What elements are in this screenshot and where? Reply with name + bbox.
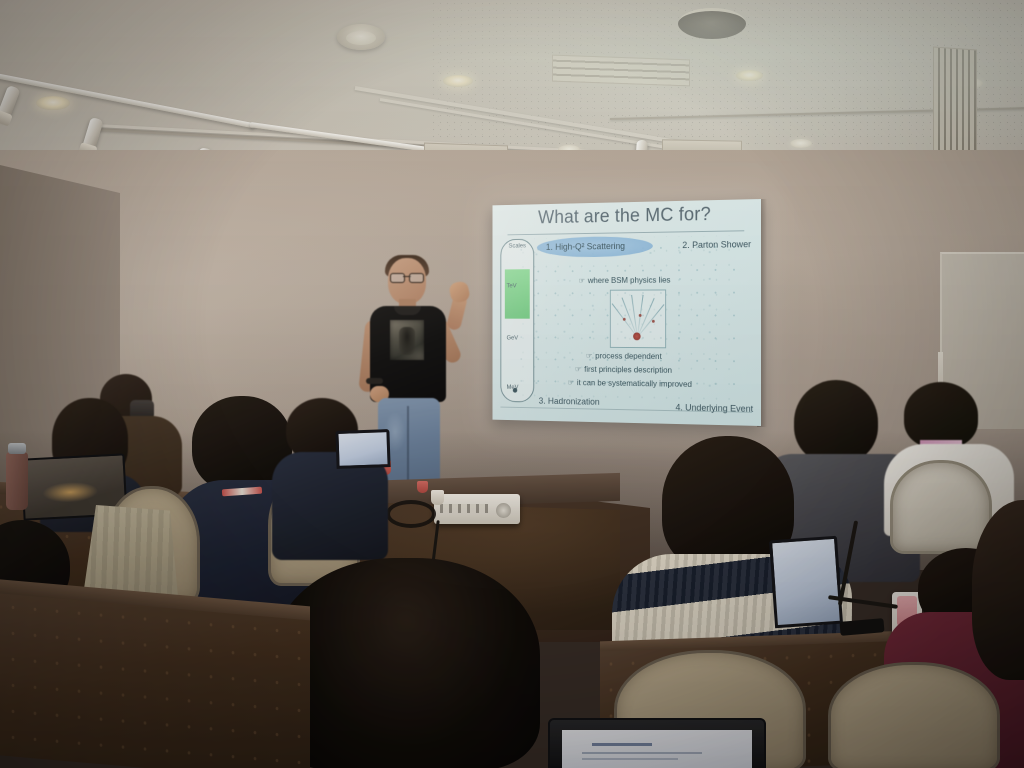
recessed-downlight-icon [36,96,70,110]
projector-ports [440,504,488,513]
foreground-table-cloth [0,592,310,768]
chair [828,662,1000,768]
scales-endpoint-dot [513,388,517,393]
slide-section-3: 3. Hadronization [539,396,600,407]
coiled-cable [386,500,436,528]
laptop-screen[interactable] [335,429,390,469]
head-curly [904,382,978,448]
track-spotlight-icon [81,117,103,153]
screen-text-line [582,758,678,760]
recessed-downlight-icon [955,78,983,89]
head [272,558,540,768]
paper-cup [431,490,444,505]
screen-text-line [592,743,652,746]
glasses-icon [390,273,424,281]
scale-tick-gev: GeV [507,335,519,342]
tev-highlight-band [505,269,530,318]
laptop[interactable] [769,536,843,629]
ceiling-vent-icon [933,46,977,159]
slide-title: What are the MC for? [492,203,761,230]
pointing-hand-icon: ☞ [586,352,593,361]
laptop-screen[interactable] [769,536,843,629]
slide-section-2: 2. Parton Shower [682,239,751,250]
title-divider [508,230,744,235]
interaction-vertex [633,332,640,340]
seminar-room-photo: What are the MC for? Scales TeV GeV MeV … [0,0,1024,768]
slide-content: What are the MC for? Scales TeV GeV MeV … [492,199,761,426]
ceiling-vent-icon [552,55,690,87]
paper-cup [417,481,428,493]
scale-tick-tev: TeV [507,283,517,290]
scales-axis: Scales TeV GeV MeV [500,239,534,403]
smoke-detector-icon [337,24,385,50]
event-display-diagram [610,289,666,348]
laptop-screen[interactable] [562,730,752,768]
water-bottle [6,452,28,510]
audience-member-center [272,398,388,558]
pointing-hand-icon: ☞ [568,378,575,387]
recessed-downlight-icon [443,75,473,87]
slide-section-1: 1. High-Q² Scattering [546,241,625,252]
bullet-text: first principles description [584,364,672,375]
screen-text-line [582,752,702,754]
track-spotlight-icon [0,85,21,121]
ceiling-speaker-icon [678,8,746,39]
slide-bullet: ☞process dependent [586,351,662,361]
laptop[interactable] [548,718,766,768]
event-hit-point [623,318,626,321]
event-hit-point [639,314,642,317]
bullet-text: it can be systematically improved [577,377,692,388]
ceiling-edge [610,107,1024,120]
scales-label: Scales [501,242,533,249]
bullet-text: process dependent [595,351,662,361]
head-long-hair [972,500,1024,680]
laptop[interactable] [335,429,390,469]
pointing-hand-icon: ☞ [575,365,582,374]
ceiling-texture [430,0,1024,150]
audience-member-foreground [272,558,540,768]
recessed-downlight-icon [736,70,763,81]
slide-bullet: ☞where BSM physics lies [579,275,671,285]
projection-screen: What are the MC for? Scales TeV GeV MeV … [492,199,761,426]
wristband [366,378,383,384]
projector [434,494,520,524]
lighting-track [0,72,256,128]
event-hit-point [652,320,655,323]
tshirt-graphic [390,320,424,360]
slide-bullet: ☞first principles description [575,364,672,375]
recessed-downlight-icon [790,139,812,148]
projector-lens-icon [496,503,511,518]
torso [272,452,388,560]
slide-bullet: ☞it can be systematically improved [568,377,692,389]
pointing-hand-icon: ☞ [579,276,586,285]
bullet-text: where BSM physics lies [588,275,671,285]
